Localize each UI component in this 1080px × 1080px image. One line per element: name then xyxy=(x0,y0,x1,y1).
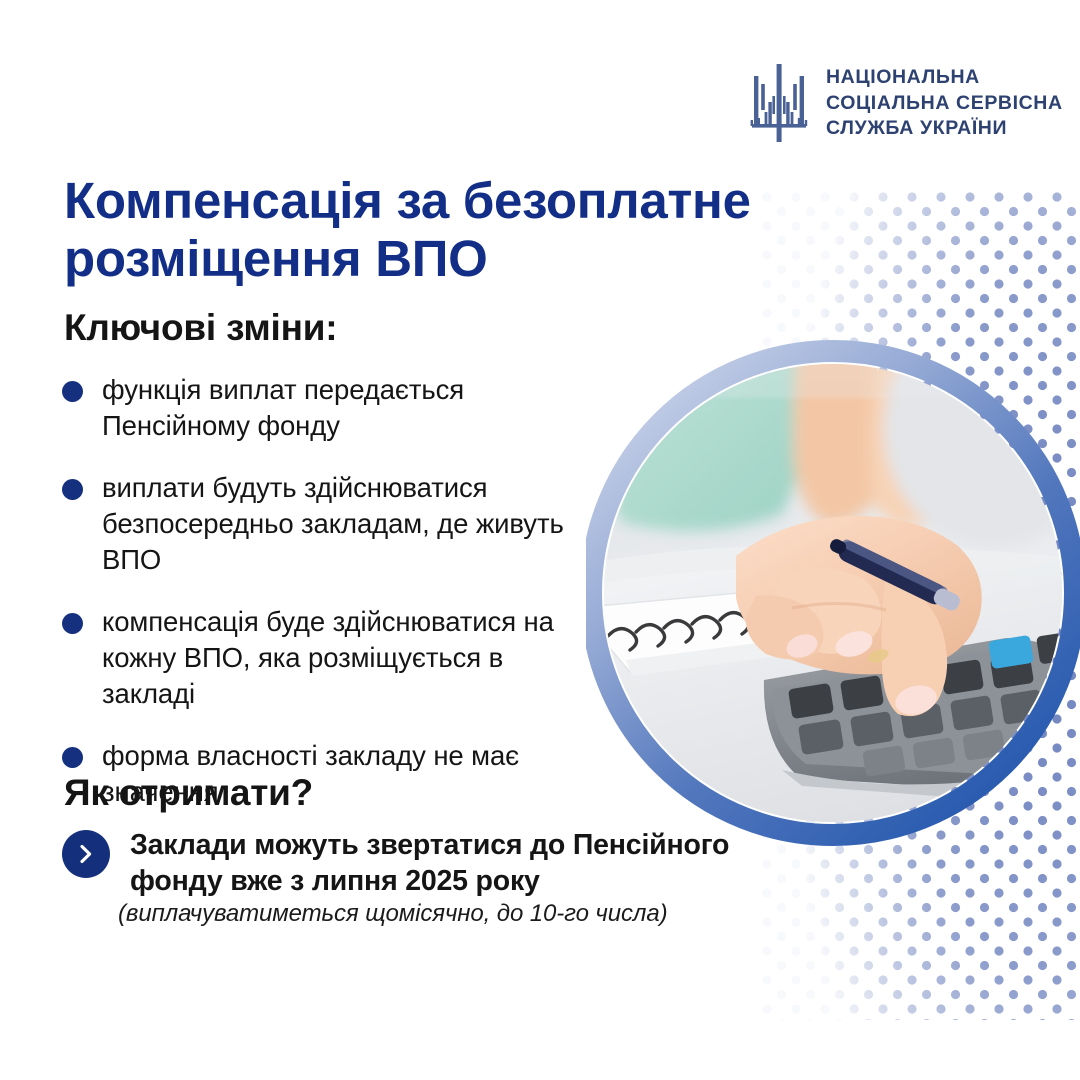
chevron-right-icon xyxy=(62,830,110,878)
trident-bars-icon xyxy=(748,62,810,144)
how-to-get-text: Заклади можуть звертатися до Пенсійного … xyxy=(130,828,762,900)
list-item: компенсація буде здійснюватися на кожну … xyxy=(62,604,582,712)
logo-line-2: СОЦІАЛЬНА СЕРВІСНА xyxy=(826,92,1063,115)
infographic-poster: Рука з ручкою натискає клавішу калькулят… xyxy=(0,0,1080,1080)
how-to-get-note: (виплачуватиметься щомісячно, до 10-го ч… xyxy=(118,900,667,928)
key-changes-heading: Ключові зміни: xyxy=(64,307,337,349)
bullet-dot-icon xyxy=(62,747,83,768)
bullet-dot-icon xyxy=(62,613,83,634)
logo-line-1: НАЦІОНАЛЬНА xyxy=(826,66,1063,89)
list-item-label: виплати будуть здійснюватися безпосередн… xyxy=(102,470,582,578)
page-title: Компенсація за безоплатне розміщення ВПО xyxy=(64,172,824,288)
photo-circle: Рука з ручкою натискає клавішу калькулят… xyxy=(586,308,1080,878)
organization-logo: НАЦІОНАЛЬНА СОЦІАЛЬНА СЕРВІСНА СЛУЖБА УК… xyxy=(748,62,1063,144)
list-item-label: компенсація буде здійснюватися на кожну … xyxy=(102,604,582,712)
key-changes-list: функція виплат передається Пенсійному фо… xyxy=(62,372,582,836)
list-item-label: функція виплат передається Пенсійному фо… xyxy=(102,372,582,444)
how-to-get-callout: Заклади можуть звертатися до Пенсійного … xyxy=(62,828,762,900)
list-item: виплати будуть здійснюватися безпосередн… xyxy=(62,470,582,578)
bullet-dot-icon xyxy=(62,381,83,402)
logo-line-3: СЛУЖБА УКРАЇНИ xyxy=(826,117,1063,140)
how-to-get-heading: Як отримати? xyxy=(64,772,313,814)
list-item: функція виплат передається Пенсійному фо… xyxy=(62,372,582,444)
bullet-dot-icon xyxy=(62,479,83,500)
